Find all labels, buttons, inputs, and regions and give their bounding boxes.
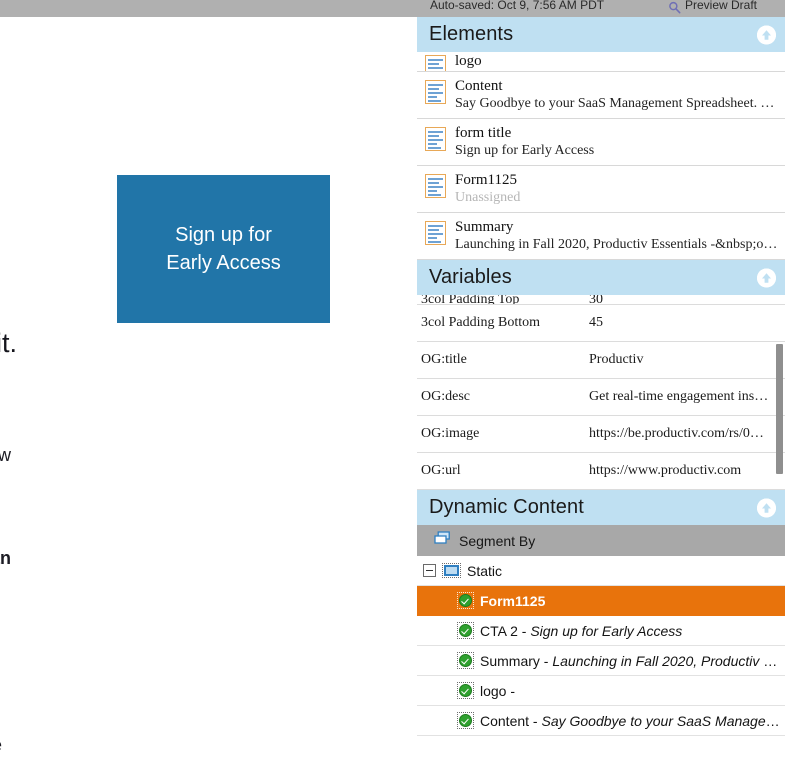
clipped-text-fragment-4: e (0, 735, 2, 756)
arrow-up-circle-icon[interactable] (757, 268, 776, 287)
text-element-icon (425, 127, 446, 151)
green-check-icon (457, 712, 474, 729)
clipped-text-fragment-2: ow (0, 445, 11, 466)
element-row-title: Content (455, 77, 779, 95)
tree-row-label: Static (467, 563, 502, 579)
element-row[interactable]: Form1125Unassigned (417, 166, 785, 213)
tree-row-selected[interactable]: Form1125 (417, 586, 785, 616)
variable-name: OG:desc (417, 389, 589, 405)
variable-value[interactable]: https://www.productiv.com (589, 463, 785, 479)
variable-value[interactable]: 30 (589, 295, 785, 305)
tree-row-detail: Say Goodbye to your SaaS Management S… (541, 713, 785, 729)
green-check-icon (457, 652, 474, 669)
tree-row-name: Static (467, 563, 502, 579)
element-row[interactable]: logo (417, 52, 785, 72)
tree-row-name: Content - (480, 713, 541, 729)
arrow-up-circle-icon[interactable] (757, 498, 776, 517)
element-row[interactable]: form titleSign up for Early Access (417, 119, 785, 166)
tree-row[interactable]: Content - Say Goodbye to your SaaS Manag… (417, 706, 785, 736)
element-row-title: logo (455, 52, 779, 70)
element-row-title: Summary (455, 218, 779, 236)
elements-section-title: Elements (429, 23, 513, 46)
variable-value[interactable]: Productiv (589, 352, 785, 368)
variables-scrollbar[interactable] (776, 344, 783, 474)
elements-section-header[interactable]: Elements (417, 17, 785, 52)
rect-icon (442, 563, 461, 578)
element-row-subtitle: Sign up for Early Access (455, 142, 779, 160)
tree-row-detail: Sign up for Early Access (530, 623, 682, 639)
clipped-text-fragment-1: it. (0, 328, 17, 359)
variable-row[interactable]: OG:imagehttps://be.productiv.com/rs/075-… (417, 416, 785, 453)
magnifier-icon (668, 1, 681, 14)
variable-name: OG:image (417, 426, 589, 442)
dynamic-content-tree[interactable]: StaticForm1125CTA 2 - Sign up for Early … (417, 556, 785, 736)
variable-row[interactable]: OG:descGet real-time engagement insights… (417, 379, 785, 416)
tree-row-name: logo - (480, 683, 515, 699)
text-element-icon (425, 80, 446, 104)
segment-by-label: Segment By (459, 533, 535, 549)
variable-row[interactable]: OG:urlhttps://www.productiv.com (417, 453, 785, 490)
element-row-subtitle: Unassigned (455, 189, 779, 207)
variable-name: 3col Padding Bottom (417, 315, 589, 331)
dynamic-content-section-title: Dynamic Content (429, 496, 584, 519)
top-toolbar: Auto-saved: Oct 9, 7:56 AM PDT Preview D… (0, 0, 785, 17)
variable-name: OG:title (417, 352, 589, 368)
tree-row-detail: Launching in Fall 2020, Productiv Essent… (552, 653, 785, 669)
green-check-icon (457, 622, 474, 639)
variable-row[interactable]: 3col Padding Bottom45 (417, 305, 785, 342)
element-row-subtitle: Launching in Fall 2020, Productiv Essent… (455, 236, 779, 254)
email-preview-canvas[interactable]: Sign up for Early Access it. ow an e (0, 17, 405, 765)
variables-section-title: Variables (429, 266, 512, 289)
tree-row[interactable]: Summary - Launching in Fall 2020, Produc… (417, 646, 785, 676)
element-row-title: form title (455, 124, 779, 142)
green-check-icon (457, 682, 474, 699)
tree-row-label: Content - Say Goodbye to your SaaS Manag… (480, 713, 785, 729)
preview-draft-label: Preview Draft (685, 0, 757, 12)
editor-right-rail: Elements logoContentSay Goodbye to your … (417, 17, 785, 765)
green-check-icon (457, 592, 474, 609)
clipped-text-fragment-3: an (0, 548, 11, 569)
text-element-icon (425, 174, 446, 198)
collapse-minus-icon[interactable] (423, 564, 436, 577)
tree-row-label: CTA 2 - Sign up for Early Access (480, 623, 682, 639)
element-row[interactable]: SummaryLaunching in Fall 2020, Productiv… (417, 213, 785, 260)
text-element-icon (425, 55, 446, 72)
elements-list[interactable]: logoContentSay Goodbye to your SaaS Mana… (417, 52, 785, 260)
variable-name: OG:url (417, 463, 589, 479)
text-element-icon (425, 221, 446, 245)
element-row[interactable]: ContentSay Goodbye to your SaaS Manageme… (417, 72, 785, 119)
variable-row[interactable]: OG:titleProductiv (417, 342, 785, 379)
dynamic-content-section-header[interactable]: Dynamic Content (417, 490, 785, 525)
tree-row-name: Summary - (480, 653, 552, 669)
variable-name: 3col Padding Top (417, 295, 589, 305)
tree-row-label: Summary - Launching in Fall 2020, Produc… (480, 653, 785, 669)
variable-value[interactable]: Get real-time engagement insights… (589, 389, 785, 405)
variable-value[interactable]: 45 (589, 315, 785, 331)
preview-draft-button[interactable]: Preview Draft (668, 0, 757, 12)
variable-row[interactable]: 3col Padding Top30 (417, 295, 785, 305)
segment-by-bar[interactable]: Segment By (417, 525, 785, 556)
tree-row-label: logo - (480, 683, 515, 699)
tree-row-name: CTA 2 - (480, 623, 530, 639)
tree-row-label: Form1125 (480, 593, 545, 609)
variables-table[interactable]: 3col Padding Top303col Padding Bottom45O… (417, 295, 785, 490)
tree-row-name: Form1125 (480, 593, 545, 609)
cta-block[interactable]: Sign up for Early Access (117, 175, 330, 323)
tree-row[interactable]: CTA 2 - Sign up for Early Access (417, 616, 785, 646)
element-row-subtitle: Say Goodbye to your SaaS Management Spre… (455, 95, 779, 113)
cta-button-label: Sign up for Early Access (166, 221, 280, 277)
variable-value[interactable]: https://be.productiv.com/rs/075-O… (589, 426, 785, 442)
arrow-up-circle-icon[interactable] (757, 25, 776, 44)
element-row-title: Form1125 (455, 171, 779, 189)
variables-section-header[interactable]: Variables (417, 260, 785, 295)
tree-row[interactable]: Static (417, 556, 785, 586)
stacked-boxes-icon (434, 531, 451, 551)
tree-row[interactable]: logo - (417, 676, 785, 706)
autosave-status: Auto-saved: Oct 9, 7:56 AM PDT (430, 0, 604, 12)
